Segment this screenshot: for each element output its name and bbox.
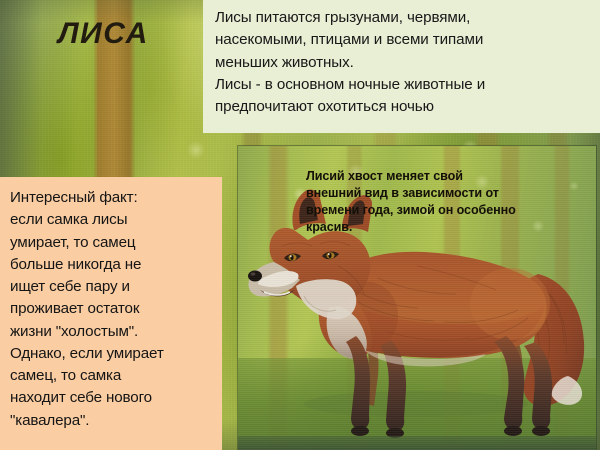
fact-line-7: жизни "холостым". <box>10 321 214 343</box>
tail-note-text: Лисий хвост меняет свой внешний вид в за… <box>306 168 594 236</box>
fact-line-5: ищет себе пару и <box>10 276 214 298</box>
fact-text-box: Интересный факт: если самка лисы умирает… <box>0 177 222 450</box>
tail-note-line-4: красив. <box>306 219 594 236</box>
presentation-slide: ЛИСА Лисы питаются грызунами, червями, н… <box>0 0 600 450</box>
tail-note-line-2: внешний вид в зависимости от <box>306 185 594 202</box>
diet-line-3: меньших животных. <box>215 52 590 74</box>
diet-line-4: Лисы - в основном ночные животные и <box>215 74 590 96</box>
fact-line-10: находит себе нового <box>10 387 214 409</box>
fact-line-9: самец, то самка <box>10 365 214 387</box>
fact-line-1: Интересный факт: <box>10 187 214 209</box>
diet-text-box: Лисы питаются грызунами, червями, насеко… <box>203 0 600 133</box>
page-title: ЛИСА <box>58 17 149 51</box>
fact-line-8: Однако, если умирает <box>10 343 214 365</box>
fact-line-4: больше никогда не <box>10 254 214 276</box>
fact-line-2: если самка лисы <box>10 209 214 231</box>
fact-line-11: "кавалера". <box>10 410 214 432</box>
diet-line-1: Лисы питаются грызунами, червями, <box>215 7 590 29</box>
diet-line-5: предпочитают охотиться ночью <box>215 96 590 118</box>
diet-line-2: насекомыми, птицами и всеми типами <box>215 29 590 51</box>
fact-line-3: умирает, то самец <box>10 232 214 254</box>
tail-note-line-1: Лисий хвост меняет свой <box>306 168 594 185</box>
tail-note-line-3: времени года, зимой он особенно <box>306 202 594 219</box>
fact-line-6: проживает остаток <box>10 298 214 320</box>
